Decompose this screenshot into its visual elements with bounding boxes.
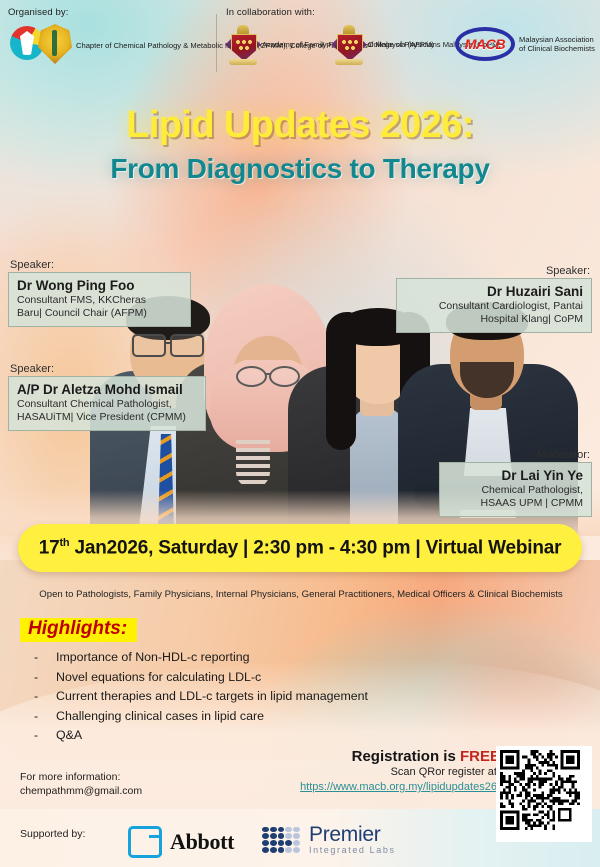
premier-dot <box>293 840 300 846</box>
moderator-detail-a: Chemical Pathologist, <box>448 484 583 497</box>
afpm-crest-icon <box>228 25 258 65</box>
speaker-card-wong-ping-foo: Dr Wong Ping Foo Consultant FMS, KKChera… <box>8 272 191 327</box>
event-datetime-banner: 17th Jan2026, Saturday | 2:30 pm - 4:30 … <box>18 524 582 572</box>
moderator-card-lai-yin-ye: Dr Lai Yin Ye Chemical Pathologist, HSAA… <box>439 462 592 517</box>
speaker-name-2: A/P Dr Aletza Mohd Ismail <box>17 382 197 398</box>
highlights-list: - Importance of Non-HDL-c reporting - No… <box>34 648 454 746</box>
contact-info: For more information: chempathmm@gmail.c… <box>20 770 142 798</box>
premier-dot <box>270 833 277 839</box>
premier-dot <box>293 827 300 833</box>
macb-logo-icon: MACB <box>455 27 515 61</box>
premier-dot <box>270 827 277 833</box>
speaker-detail-3a: Consultant Cardiologist, Pantai <box>405 300 583 313</box>
premier-dot <box>278 827 285 833</box>
list-item: - Current therapies and LDL-c targets in… <box>34 687 454 707</box>
collaborator-macb-label: Malaysian Association of Clinical Bioche… <box>519 35 600 54</box>
moderator-detail-b: HSAAS UPM | CPMM <box>448 497 583 510</box>
highlight-text: Current therapies and LDL-c targets in l… <box>56 687 368 707</box>
collaboration-label: In collaboration with: <box>226 7 315 18</box>
premier-dot <box>270 847 277 853</box>
qr-code-icon[interactable] <box>496 746 592 842</box>
speaker-card-huzairi-sani: Dr Huzairi Sani Consultant Cardiologist,… <box>396 278 592 333</box>
abbott-logo-icon: Abbott <box>128 826 234 858</box>
speaker-detail-2b: HASAUiTM| Vice President (CPMM) <box>17 411 197 424</box>
speaker-role-2: Speaker: <box>10 363 54 375</box>
speaker-detail-3b: Hospital Klang| CoPM <box>405 313 583 326</box>
premier-dot <box>285 827 292 833</box>
event-day-ordinal: th <box>59 537 69 549</box>
collaborator-logo-macb: MACB Malaysian Association of Clinical B… <box>455 27 600 61</box>
title-main: Lipid Updates 2026: <box>0 104 600 147</box>
premier-dot <box>285 847 292 853</box>
contact-label: For more information: <box>20 770 142 784</box>
moderator-name: Dr Lai Yin Ye <box>448 468 583 484</box>
copm-crest-icon <box>334 25 364 65</box>
premier-dot <box>278 833 285 839</box>
premier-wordmark: Premier <box>309 824 396 845</box>
registration-heading: Registration is FREE <box>352 748 500 765</box>
registration-scan-text: Scan QRor register at: <box>391 766 500 778</box>
poster-title-block: Lipid Updates 2026: From Diagnostics to … <box>0 104 600 185</box>
premier-tagline: Integrated Labs <box>309 845 396 855</box>
moderator-role: Moderator: <box>537 449 590 461</box>
speaker-detail-1a: Consultant FMS, KKCheras <box>17 294 182 307</box>
premier-dot <box>285 840 292 846</box>
registration-prefix: Registration is <box>352 748 460 765</box>
title-subtitle: From Diagnostics to Therapy <box>0 153 600 185</box>
highlight-text: Challenging clinical cases in lipid care <box>56 707 264 727</box>
highlight-text: Importance of Non-HDL-c reporting <box>56 648 250 668</box>
event-day: 17 <box>39 537 60 558</box>
list-item: - Importance of Non-HDL-c reporting <box>34 648 454 668</box>
cpmm-emblem-icon <box>10 24 72 68</box>
macb-wordmark: MACB <box>455 27 515 61</box>
premier-dot <box>262 833 269 839</box>
list-item: - Q&A <box>34 726 454 746</box>
abbott-mark <box>128 826 162 858</box>
premier-dot <box>285 833 292 839</box>
highlight-text: Novel equations for calculating LDL-c <box>56 668 261 688</box>
speaker-role-1: Speaker: <box>10 259 54 271</box>
list-item: - Challenging clinical cases in lipid ca… <box>34 707 454 727</box>
premier-dot <box>278 847 285 853</box>
premier-dot <box>278 840 285 846</box>
speaker-detail-2a: Consultant Chemical Pathologist, <box>17 398 197 411</box>
premier-logo-icon: Premier Integrated Labs <box>262 824 396 855</box>
premier-dot-matrix <box>262 827 300 853</box>
registration-url[interactable]: https://www.macb.org.my/lipidupdates26/ <box>300 781 500 793</box>
premier-dot <box>262 827 269 833</box>
organised-by-label: Organised by: <box>8 7 68 18</box>
event-datetime-text: 17th Jan2026, Saturday | 2:30 pm - 4:30 … <box>39 537 562 559</box>
premier-wordmark-block: Premier Integrated Labs <box>309 824 396 855</box>
premier-dot <box>293 833 300 839</box>
bullet-dash: - <box>34 687 40 707</box>
speaker-name-3: Dr Huzairi Sani <box>405 284 583 300</box>
contact-email[interactable]: chempathmm@gmail.com <box>20 784 142 798</box>
speaker-card-aletza-mohd-ismail: A/P Dr Aletza Mohd Ismail Consultant Che… <box>8 376 206 431</box>
registration-free-badge: FREE <box>460 748 500 765</box>
bullet-dash: - <box>34 648 40 668</box>
bullet-dash: - <box>34 707 40 727</box>
speaker-name-1: Dr Wong Ping Foo <box>17 278 182 294</box>
supported-by-label: Supported by: <box>20 828 85 840</box>
list-item: - Novel equations for calculating LDL-c <box>34 668 454 688</box>
poster-header: Organised by: In collaboration with: Cha… <box>0 0 600 82</box>
bullet-dash: - <box>34 726 40 746</box>
event-datetime-rest: Jan2026, Saturday | 2:30 pm - 4:30 pm | … <box>69 537 561 558</box>
abbott-wordmark: Abbott <box>170 829 234 855</box>
bullet-dash: - <box>34 668 40 688</box>
premier-dot <box>262 840 269 846</box>
highlight-text: Q&A <box>56 726 82 746</box>
webinar-poster: Organised by: In collaboration with: Cha… <box>0 0 600 867</box>
premier-dot <box>270 840 277 846</box>
highlights-heading: Highlights: <box>20 618 137 642</box>
premier-dot <box>293 847 300 853</box>
speaker-detail-1b: Baru| Council Chair (AFPM) <box>17 307 182 320</box>
audience-line: Open to Pathologists, Family Physicians,… <box>15 589 587 600</box>
premier-dot <box>262 847 269 853</box>
speaker-role-3: Speaker: <box>546 265 590 277</box>
